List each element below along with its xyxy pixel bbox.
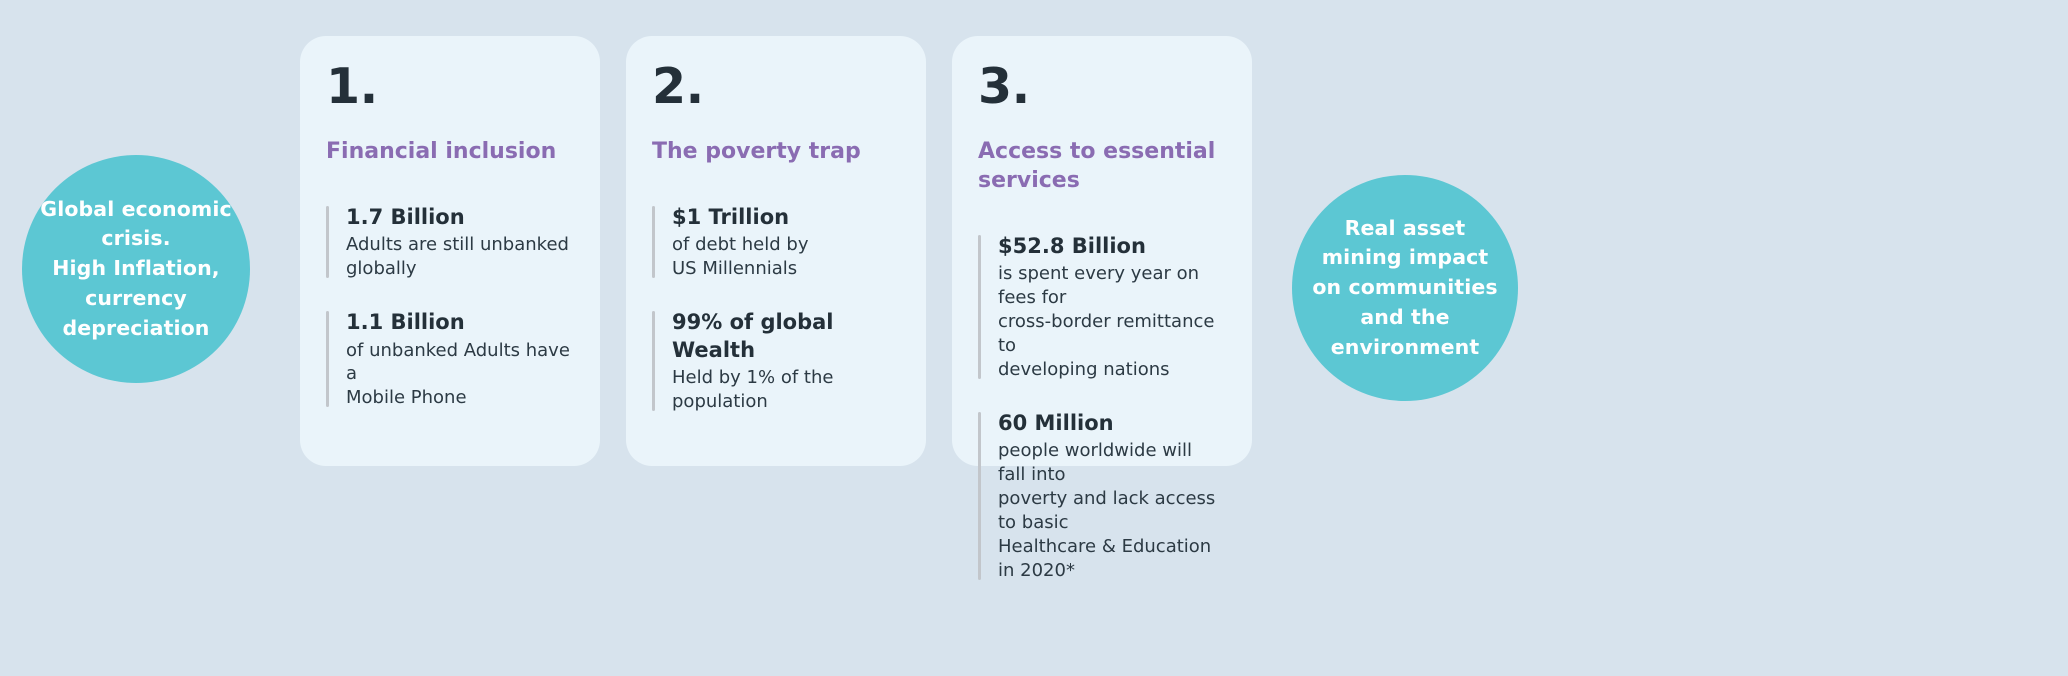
card-financial-inclusion: 1. Financial inclusion 1.7 Billion Adult… xyxy=(300,36,600,466)
right-context-circle: Real asset mining impact on communities … xyxy=(1292,175,1518,401)
stat-headline: 1.7 Billion xyxy=(346,204,572,231)
stat-headline: 1.1 Billion xyxy=(346,309,572,336)
stat-accent-bar xyxy=(326,206,329,278)
left-circle-label: Global economic crisis. High Inflation, … xyxy=(40,195,232,344)
card-subtitle: Financial inclusion xyxy=(326,137,572,166)
stat-item: 1.7 Billion Adults are still unbanked gl… xyxy=(326,204,572,281)
stat-body: people worldwide will fall into poverty … xyxy=(998,439,1224,583)
left-context-circle: Global economic crisis. High Inflation, … xyxy=(22,155,250,383)
stat-accent-bar xyxy=(978,412,981,580)
stat-item: $1 Trillion of debt held by US Millennia… xyxy=(652,204,898,281)
card-number: 2. xyxy=(652,62,898,111)
stat-item: 1.1 Billion of unbanked Adults have a Mo… xyxy=(326,309,572,410)
stat-accent-bar xyxy=(652,206,655,278)
stats-list: $52.8 Billion is spent every year on fee… xyxy=(978,233,1224,583)
stat-item: 99% of global Wealth Held by 1% of the p… xyxy=(652,309,898,413)
card-poverty-trap: 2. The poverty trap $1 Trillion of debt … xyxy=(626,36,926,466)
stat-body: is spent every year on fees for cross-bo… xyxy=(998,262,1224,382)
card-subtitle: The poverty trap xyxy=(652,137,898,166)
stats-list: $1 Trillion of debt held by US Millennia… xyxy=(652,204,898,414)
card-subtitle: Access to essential services xyxy=(978,137,1224,195)
right-circle-label: Real asset mining impact on communities … xyxy=(1306,214,1504,363)
stat-item: $52.8 Billion is spent every year on fee… xyxy=(978,233,1224,382)
stat-accent-bar xyxy=(652,311,655,410)
stat-headline: 60 Million xyxy=(998,410,1224,437)
cards-container: 1. Financial inclusion 1.7 Billion Adult… xyxy=(300,36,1252,466)
card-number: 3. xyxy=(978,62,1224,111)
stat-headline: 99% of global Wealth xyxy=(672,309,898,364)
card-access-to-essential-services: 3. Access to essential services $52.8 Bi… xyxy=(952,36,1252,466)
stats-list: 1.7 Billion Adults are still unbanked gl… xyxy=(326,204,572,410)
stat-body: of unbanked Adults have a Mobile Phone xyxy=(346,339,572,411)
stat-body: Held by 1% of the population xyxy=(672,366,898,414)
stat-headline: $1 Trillion xyxy=(672,204,898,231)
stat-accent-bar xyxy=(978,235,981,379)
stat-accent-bar xyxy=(326,311,329,407)
stat-item: 60 Million people worldwide will fall in… xyxy=(978,410,1224,583)
stat-body: Adults are still unbanked globally xyxy=(346,233,572,281)
stat-body: of debt held by US Millennials xyxy=(672,233,898,281)
stat-headline: $52.8 Billion xyxy=(998,233,1224,260)
card-number: 1. xyxy=(326,62,572,111)
